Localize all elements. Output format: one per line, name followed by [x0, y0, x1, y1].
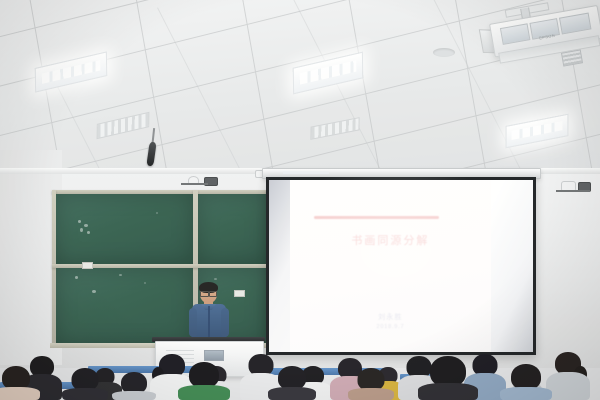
projection-screen: 书画同源分解 刘永胜 2018.9.7 — [266, 177, 536, 355]
chalkboard-panel — [198, 194, 266, 264]
chalkboard-clip — [82, 262, 93, 269]
slide-title: 书画同源分解 — [290, 232, 491, 248]
audience-person — [112, 372, 156, 400]
slide-author: 刘永胜 — [290, 312, 491, 322]
audience-person — [62, 368, 108, 400]
chalkboard-panel — [56, 194, 193, 264]
audience-person — [178, 362, 230, 400]
audience-person — [268, 366, 316, 400]
audience-person — [546, 352, 590, 400]
ceiling: EPSON — [0, 0, 600, 186]
audience-person — [500, 364, 552, 400]
chalkboard — [52, 190, 270, 345]
audience-person — [0, 366, 40, 400]
wall-cable — [181, 183, 208, 185]
wall-camera-icon — [204, 177, 218, 186]
projected-slide: 书画同源分解 刘永胜 2018.9.7 — [290, 180, 491, 352]
audience — [0, 330, 600, 400]
audience-person — [348, 368, 394, 400]
projection-screen-surface: 书画同源分解 刘永胜 2018.9.7 — [269, 180, 533, 352]
chalkboard-clip — [234, 290, 245, 297]
presenter-glasses-icon — [200, 291, 217, 295]
audience-person — [418, 356, 478, 400]
slide-divider-rule — [314, 216, 438, 219]
classroom-photo: EPSON — [0, 0, 600, 400]
ceiling-speaker-hole — [433, 48, 455, 57]
wall-cable — [556, 190, 590, 192]
